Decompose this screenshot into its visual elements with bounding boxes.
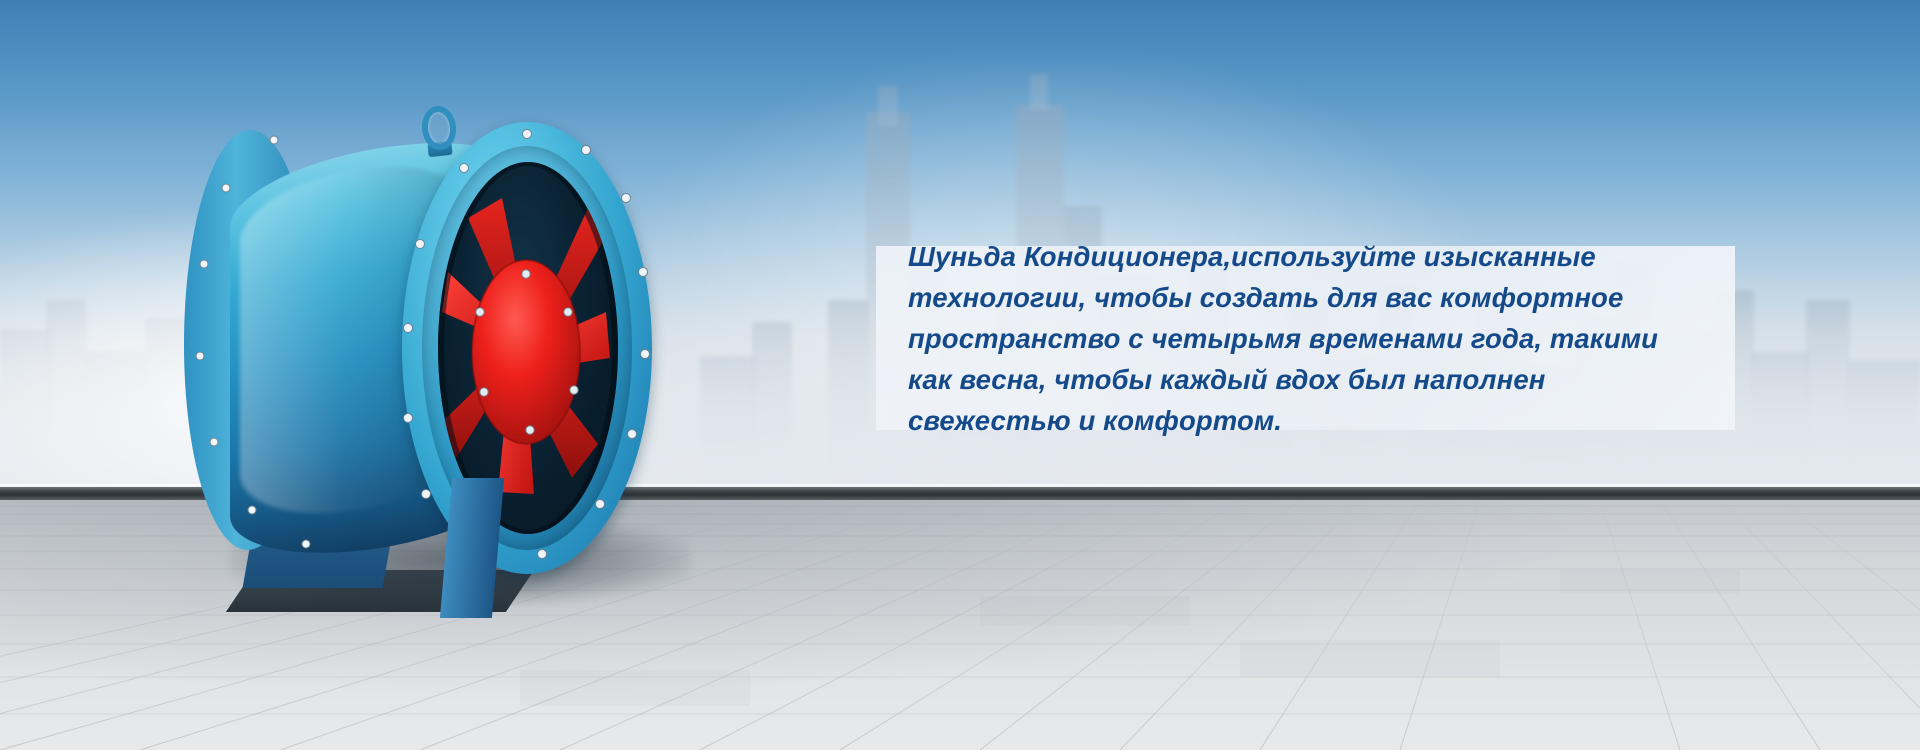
hero-banner: Шуньда Кондиционера,используйте изысканн… [0,0,1920,750]
rear-flange-bolt-ring [178,124,328,564]
axial-flow-fan-product [170,100,690,620]
copy-line-2: технологии, чтобы создать для вас комфор… [908,282,1623,313]
copy-line-4: как весна, чтобы каждый вдох был наполне… [908,364,1545,395]
marketing-text-panel: Шуньда Кондиционера,используйте изысканн… [876,246,1735,430]
copy-line-3: пространство с четырьмя временами года, … [908,323,1658,354]
marketing-copy: Шуньда Кондиционера,используйте изысканн… [876,236,1686,441]
front-flange-bolt-ring [402,122,652,574]
copy-line-5: свежестью и комфортом. [908,405,1282,436]
copy-line-1: Шуньда Кондиционера,используйте изысканн… [908,241,1596,272]
